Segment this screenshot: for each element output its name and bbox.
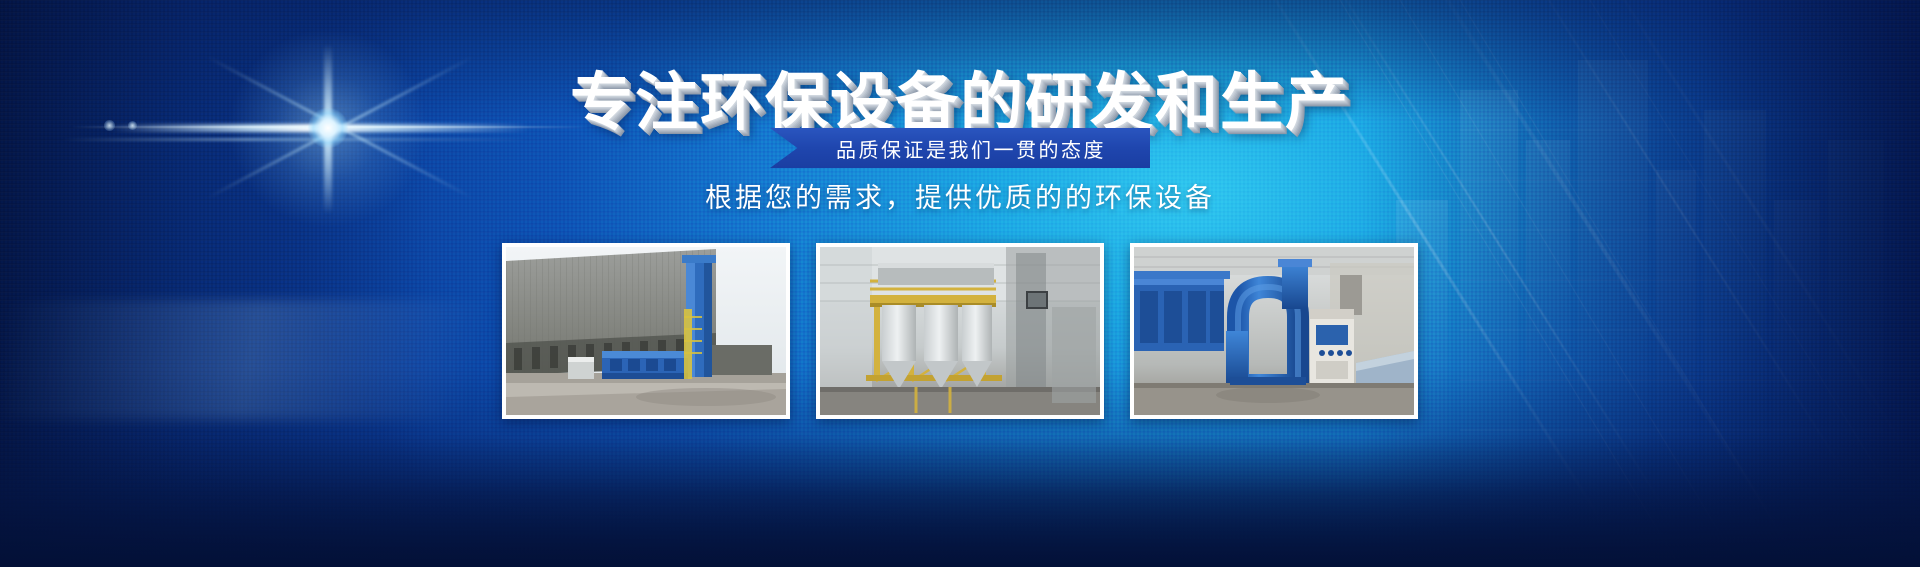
ribbon-banner: 品质保证是我们一贯的态度 [770, 128, 1150, 168]
photo-workshop-exterior[interactable] [502, 243, 790, 419]
photo-blue-ducting[interactable] [1130, 243, 1418, 419]
bottom-shade [0, 435, 1920, 567]
ribbon-label: 品质保证是我们一贯的态度 [770, 128, 1150, 168]
photo-indoor-platform[interactable] [816, 243, 1104, 419]
photo-strip [502, 243, 1418, 419]
banner-subline: 根据您的需求，提供优质的的环保设备 [0, 176, 1920, 215]
hero-banner: 专注环保设备的研发和生产 品质保证是我们一贯的态度 根据您的需求，提供优质的的环… [0, 0, 1920, 567]
